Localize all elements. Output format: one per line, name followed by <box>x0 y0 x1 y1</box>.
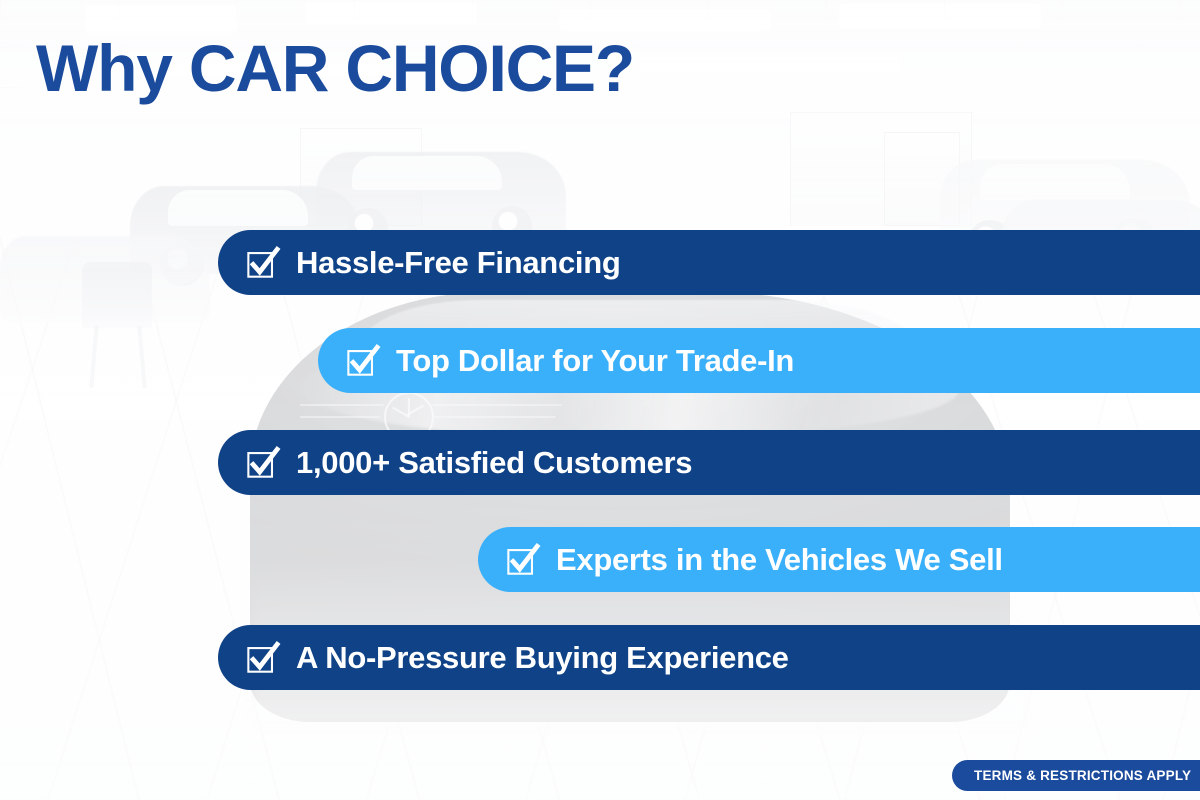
checkbox-checked-icon <box>246 446 280 480</box>
content-layer: Why CAR CHOICE? Hassle-Free Financing To… <box>0 0 1200 800</box>
benefit-bar[interactable]: Hassle-Free Financing <box>218 230 1200 295</box>
benefit-bar[interactable]: Top Dollar for Your Trade-In <box>318 328 1200 393</box>
benefit-label: Experts in the Vehicles We Sell <box>556 544 1003 575</box>
checkbox-checked-icon <box>246 641 280 675</box>
disclaimer-badge[interactable]: TERMS & RESTRICTIONS APPLY <box>952 760 1200 791</box>
benefit-bar[interactable]: 1,000+ Satisfied Customers <box>218 430 1200 495</box>
disclaimer-label: TERMS & RESTRICTIONS APPLY <box>974 768 1191 783</box>
checkbox-checked-icon <box>506 543 540 577</box>
checkbox-checked-icon <box>346 344 380 378</box>
benefit-label: Top Dollar for Your Trade-In <box>396 345 794 376</box>
benefit-label: 1,000+ Satisfied Customers <box>296 447 692 478</box>
benefit-label: Hassle-Free Financing <box>296 247 620 278</box>
checkbox-checked-icon <box>246 246 280 280</box>
benefit-bar[interactable]: A No-Pressure Buying Experience <box>218 625 1200 690</box>
page-title: Why CAR CHOICE? <box>36 34 634 103</box>
benefit-label: A No-Pressure Buying Experience <box>296 642 789 673</box>
benefit-bar[interactable]: Experts in the Vehicles We Sell <box>478 527 1200 592</box>
promo-graphic: Why CAR CHOICE? Hassle-Free Financing To… <box>0 0 1200 800</box>
